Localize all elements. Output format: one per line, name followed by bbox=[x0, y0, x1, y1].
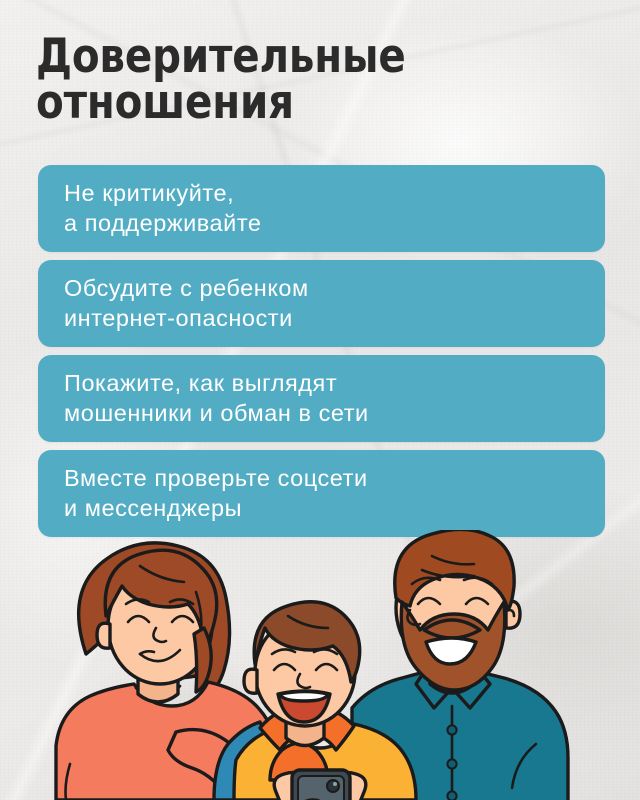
page-title: Доверительные отношения bbox=[36, 34, 518, 125]
tip-card-4: Вместе проверьте соцсети и мессенджеры bbox=[38, 450, 605, 537]
tip-card-4-label: Вместе проверьте соцсети и мессенджеры bbox=[64, 464, 368, 523]
tip-card-1: Не критикуйте, а поддерживайте bbox=[38, 165, 605, 252]
tip-card-2-label: Обсудите с ребенком интернет-опасности bbox=[64, 274, 309, 333]
tip-card-3: Покажите, как выглядят мошенники и обман… bbox=[38, 355, 605, 442]
tip-card-2: Обсудите с ребенком интернет-опасности bbox=[38, 260, 605, 347]
family-illustration: .ol { stroke:#1b1b1b; stroke-width:3.4; … bbox=[0, 530, 640, 800]
poster-canvas: Доверительные отношения Не критикуйте, а… bbox=[0, 0, 640, 800]
tip-card-1-label: Не критикуйте, а поддерживайте bbox=[64, 179, 262, 238]
tip-card-3-label: Покажите, как выглядят мошенники и обман… bbox=[64, 369, 369, 428]
tips-list: Не критикуйте, а поддерживайте Обсудите … bbox=[38, 165, 605, 537]
